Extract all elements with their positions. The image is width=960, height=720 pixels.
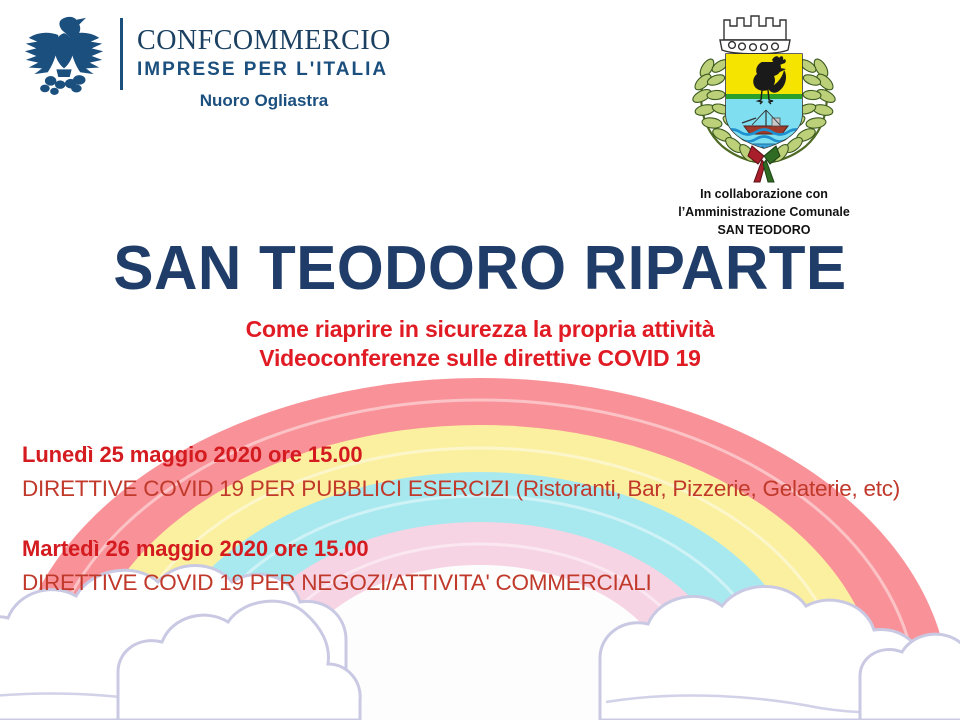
page-title: SAN TEODORO RIPARTE — [14, 238, 945, 300]
ribbon-icon — [748, 146, 780, 182]
logo-wordmark: Confcommercio — [137, 16, 391, 56]
subtitle-line-1: Come riaprire in sicurezza la propria at… — [0, 315, 960, 344]
shield-field-divider — [724, 94, 804, 99]
logo-divider — [120, 18, 123, 90]
session-datetime: Lunedì 25 maggio 2020 ore 15.00 — [22, 440, 952, 470]
shield-icon — [724, 52, 804, 154]
san-teodoro-coat-of-arms-icon — [676, 6, 852, 184]
session-list: Lunedì 25 maggio 2020 ore 15.00 DIRETTIV… — [22, 440, 952, 628]
session-datetime: Martedì 26 maggio 2020 ore 15.00 — [22, 534, 952, 564]
crest-caption-line-2: l’Amministrazione Comunale — [676, 204, 852, 220]
subtitle-line-2: Videoconferenze sulle direttive COVID 19 — [0, 344, 960, 373]
municipality-crest-block: In collaborazione con l’Amministrazione … — [676, 6, 852, 238]
logo-territory: Nuoro Ogliastra — [137, 91, 391, 111]
session-topic: DIRETTIVE COVID 19 PER NEGOZI/ATTIVITA' … — [22, 567, 952, 599]
session-item: Lunedì 25 maggio 2020 ore 15.00 DIRETTIV… — [22, 440, 952, 504]
poster-canvas: Confcommercio IMPRESE PER L'ITALIA Nuoro… — [0, 0, 960, 720]
logo-tagline: IMPRESE PER L'ITALIA — [137, 59, 391, 81]
confcommercio-logo: Confcommercio IMPRESE PER L'ITALIA Nuoro… — [16, 14, 391, 111]
crest-caption-line-1: In collaborazione con — [676, 186, 852, 202]
subtitle-block: Come riaprire in sicurezza la propria at… — [0, 315, 960, 374]
confcommercio-eagle-icon — [16, 14, 112, 98]
mural-crown-icon — [720, 16, 790, 54]
session-topic: DIRETTIVE COVID 19 PER PUBBLICI ESERCIZI… — [22, 473, 952, 505]
cloud-graphic-far-right — [860, 634, 960, 720]
session-item: Martedì 26 maggio 2020 ore 15.00 DIRETTI… — [22, 534, 952, 598]
